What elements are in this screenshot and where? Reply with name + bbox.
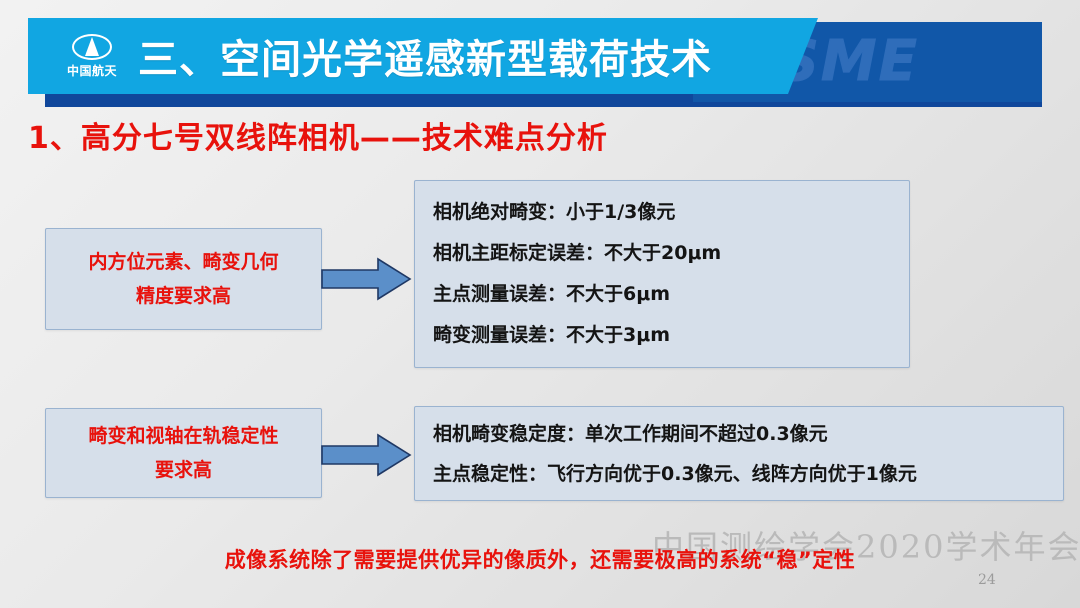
challenge-box-1-line-1: 内方位元素、畸变几何: [88, 245, 278, 279]
casc-logo-icon: [72, 34, 112, 60]
slide-number: 24: [978, 572, 996, 588]
requirements-box-1: 相机绝对畸变：小于1/3像元 相机主距标定误差：不大于20μm 主点测量误差：不…: [414, 180, 910, 368]
summary-note: 成像系统除了需要提供优异的像质外，还需要极高的系统“稳”定性: [0, 544, 1080, 574]
right-arrow-icon-2: [320, 432, 412, 478]
slide-header: BISME 中国航天 三、空间光学遥感新型载荷技术: [0, 0, 1080, 118]
slide-canvas: BISME 中国航天 三、空间光学遥感新型载荷技术 1、高分七号双线阵相机——技…: [0, 0, 1080, 608]
page-title: 1、高分七号双线阵相机——技术难点分析: [28, 113, 608, 157]
right-arrow-icon-1: [320, 256, 412, 302]
requirement-line: 主点测量误差：不大于6μm: [433, 274, 895, 315]
challenge-box-1-line-2: 精度要求高: [136, 279, 231, 313]
challenge-box-2-line-2: 要求高: [155, 453, 212, 487]
requirement-line: 相机主距标定误差：不大于20μm: [433, 233, 895, 274]
challenge-box-2-line-1: 畸变和视轴在轨稳定性: [88, 419, 278, 453]
requirement-line: 相机绝对畸变：小于1/3像元: [433, 192, 895, 233]
challenge-box-1: 内方位元素、畸变几何 精度要求高: [45, 228, 322, 330]
requirement-line: 相机畸变稳定度：单次工作期间不超过0.3像元: [433, 414, 1049, 454]
casc-logo-label: 中国航天: [67, 62, 117, 79]
section-title: 三、空间光学遥感新型载荷技术: [138, 22, 712, 90]
requirements-box-2: 相机畸变稳定度：单次工作期间不超过0.3像元 主点稳定性：飞行方向优于0.3像元…: [414, 406, 1064, 501]
requirement-line: 畸变测量误差：不大于3μm: [433, 315, 895, 356]
requirement-line: 主点稳定性：飞行方向优于0.3像元、线阵方向优于1像元: [433, 454, 1049, 494]
casc-logo: 中国航天: [55, 27, 129, 85]
challenge-box-2: 畸变和视轴在轨稳定性 要求高: [45, 408, 322, 498]
logo-arrow-shape: [85, 37, 99, 56]
